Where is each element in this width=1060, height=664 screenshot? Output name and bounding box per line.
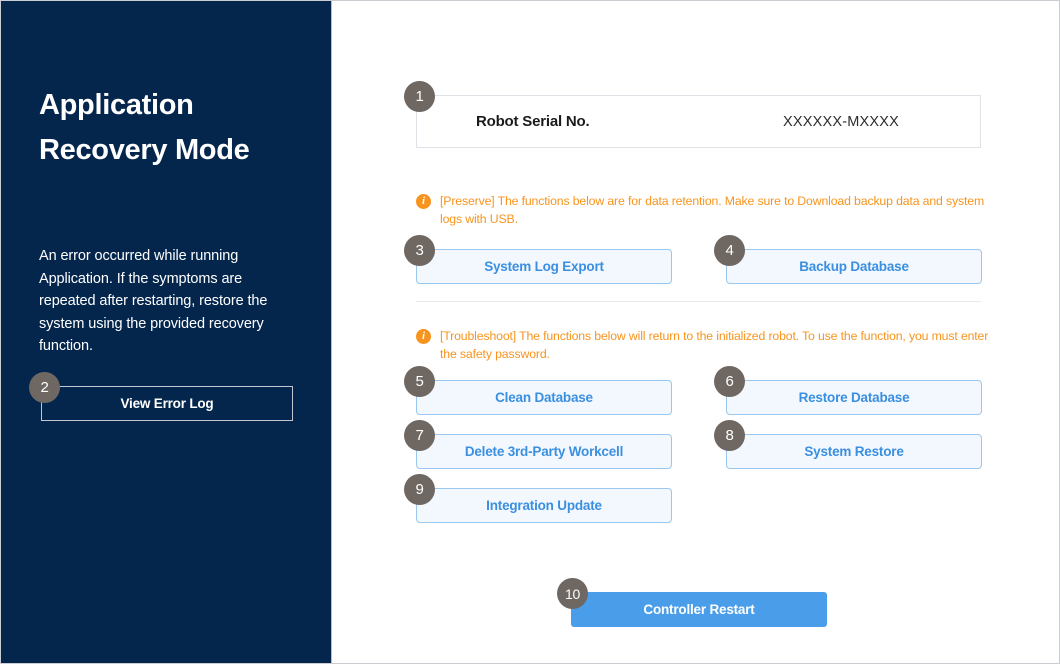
restore-database-button[interactable]: Restore Database: [726, 380, 982, 415]
badge-1: 1: [404, 81, 435, 112]
troubleshoot-notice-text: [Troubleshoot] The functions below will …: [440, 327, 991, 363]
sidebar: Application Recovery Mode An error occur…: [1, 1, 332, 664]
info-icon: i: [416, 194, 431, 209]
integration-update-button[interactable]: Integration Update: [416, 488, 672, 523]
badge-8: 8: [714, 420, 745, 451]
section-divider: [416, 301, 981, 302]
page-title: Application Recovery Mode: [39, 83, 289, 173]
delete-3rd-party-workcell-button[interactable]: Delete 3rd-Party Workcell: [416, 434, 672, 469]
sidebar-description: An error occurred while running Applicat…: [39, 245, 289, 358]
badge-3: 3: [404, 235, 435, 266]
badge-6: 6: [714, 366, 745, 397]
badge-7: 7: [404, 420, 435, 451]
system-log-export-button[interactable]: System Log Export: [416, 249, 672, 284]
robot-serial-label: Robot Serial No.: [476, 113, 589, 130]
preserve-notice: i [Preserve] The functions below are for…: [416, 192, 991, 228]
badge-10: 10: [557, 578, 588, 609]
controller-restart-button[interactable]: Controller Restart: [571, 592, 827, 627]
badge-9: 9: [404, 474, 435, 505]
clean-database-button[interactable]: Clean Database: [416, 380, 672, 415]
robot-serial-value: XXXXXX-MXXXX: [783, 114, 899, 130]
troubleshoot-notice: i [Troubleshoot] The functions below wil…: [416, 327, 991, 363]
robot-serial-panel: Robot Serial No. XXXXXX-MXXXX: [416, 95, 981, 148]
badge-4: 4: [714, 235, 745, 266]
preserve-notice-text: [Preserve] The functions below are for d…: [440, 192, 991, 228]
info-icon: i: [416, 329, 431, 344]
system-restore-button[interactable]: System Restore: [726, 434, 982, 469]
backup-database-button[interactable]: Backup Database: [726, 249, 982, 284]
badge-5: 5: [404, 366, 435, 397]
badge-2: 2: [29, 372, 60, 403]
recovery-mode-screen: Application Recovery Mode An error occur…: [0, 0, 1060, 664]
view-error-log-button[interactable]: View Error Log: [41, 386, 293, 421]
